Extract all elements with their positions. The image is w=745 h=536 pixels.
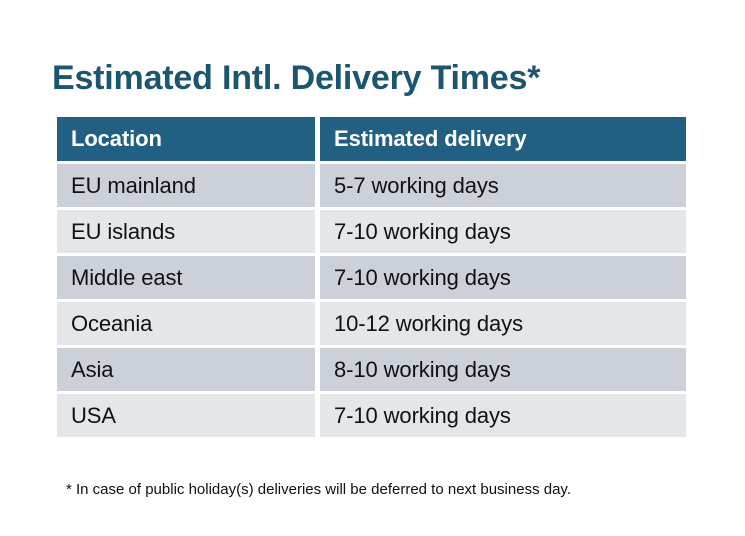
cell-location: Middle east <box>57 256 315 299</box>
table-header: Location Estimated delivery <box>57 117 686 161</box>
page-title: Estimated Intl. Delivery Times* <box>52 59 540 98</box>
delivery-times-page: Estimated Intl. Delivery Times* Location… <box>0 0 745 536</box>
table-row: USA 7-10 working days <box>57 394 686 437</box>
table-body: EU mainland 5-7 working days EU islands … <box>57 164 686 437</box>
table-row: EU mainland 5-7 working days <box>57 164 686 207</box>
delivery-times-table: Location Estimated delivery EU mainland … <box>52 114 691 440</box>
cell-delivery: 7-10 working days <box>320 256 686 299</box>
table-row: EU islands 7-10 working days <box>57 210 686 253</box>
column-header-delivery: Estimated delivery <box>320 117 686 161</box>
cell-location: EU islands <box>57 210 315 253</box>
cell-location: Oceania <box>57 302 315 345</box>
table-header-row: Location Estimated delivery <box>57 117 686 161</box>
cell-delivery: 7-10 working days <box>320 394 686 437</box>
table-footnote: * In case of public holiday(s) deliverie… <box>66 481 571 498</box>
cell-delivery: 10-12 working days <box>320 302 686 345</box>
cell-location: Asia <box>57 348 315 391</box>
table-row: Oceania 10-12 working days <box>57 302 686 345</box>
cell-delivery: 7-10 working days <box>320 210 686 253</box>
table-row: Asia 8-10 working days <box>57 348 686 391</box>
cell-location: EU mainland <box>57 164 315 207</box>
column-header-location: Location <box>57 117 315 161</box>
cell-delivery: 5-7 working days <box>320 164 686 207</box>
cell-location: USA <box>57 394 315 437</box>
cell-delivery: 8-10 working days <box>320 348 686 391</box>
table-row: Middle east 7-10 working days <box>57 256 686 299</box>
